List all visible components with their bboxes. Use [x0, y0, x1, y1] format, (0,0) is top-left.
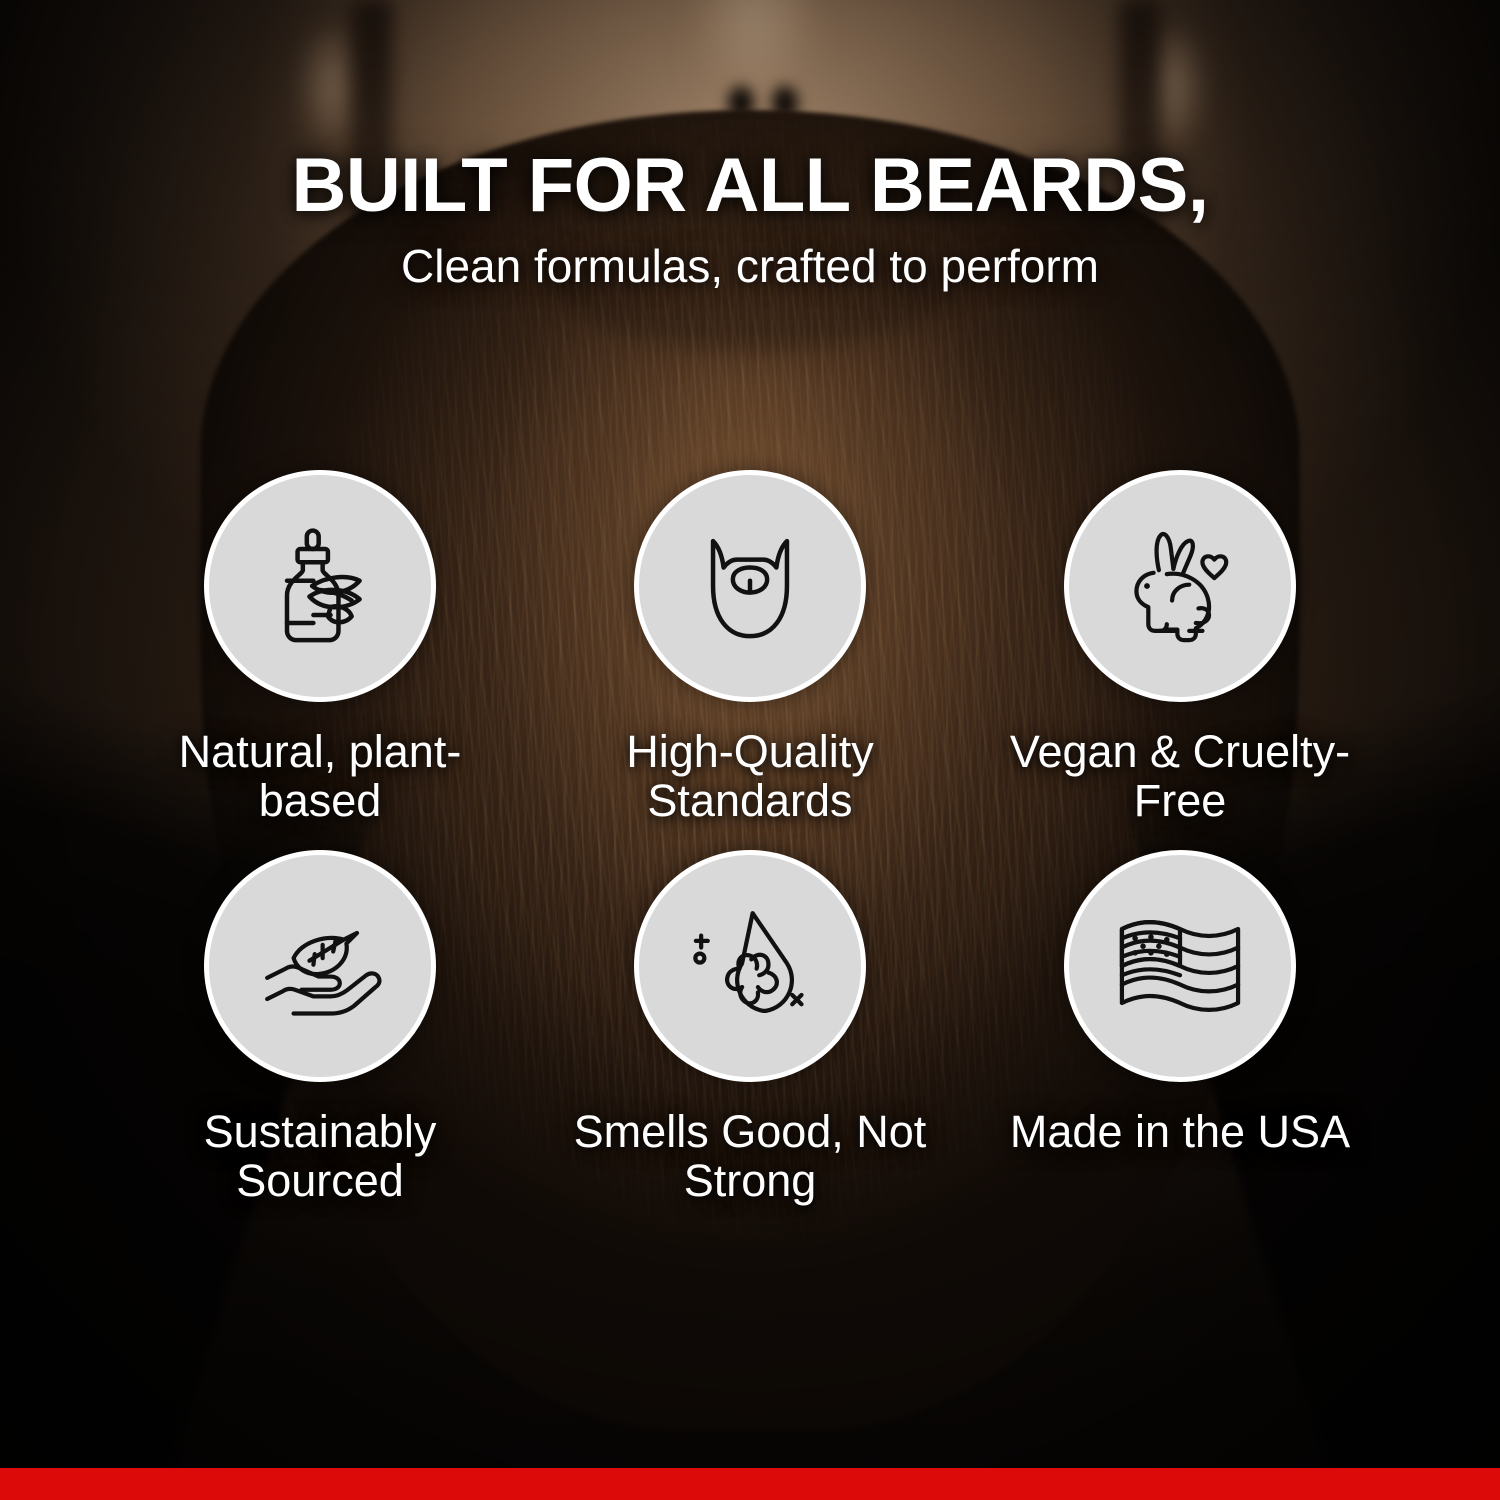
beard-care-feature-banner: BUILT FOR ALL BEARDS, Clean formulas, cr… — [0, 0, 1500, 1500]
feature-item-sustainably-sourced: Sustainably Sourced — [105, 850, 535, 1230]
feature-item-natural-plant-based: Natural, plant-based — [105, 470, 535, 850]
feature-badge — [634, 470, 866, 702]
feature-label: High-Quality Standards — [550, 728, 950, 825]
feature-label: Smells Good, Not Strong — [550, 1108, 950, 1205]
feature-item-vegan-cruelty-free: Vegan & Cruelty-Free — [965, 470, 1395, 850]
feature-label: Vegan & Cruelty-Free — [980, 728, 1380, 825]
feature-label: Natural, plant-based — [120, 728, 520, 825]
feature-badge — [204, 850, 436, 1082]
feature-badge — [1064, 470, 1296, 702]
feature-item-smells-good-not-strong: Smells Good, Not Strong — [535, 850, 965, 1230]
feature-label: Made in the USA — [1010, 1108, 1350, 1157]
page-title: BUILT FOR ALL BEARDS, — [0, 148, 1500, 224]
usa-flag-icon — [1114, 900, 1246, 1032]
feature-badge — [1064, 850, 1296, 1082]
headline-block: BUILT FOR ALL BEARDS, Clean formulas, cr… — [0, 148, 1500, 290]
droplet-flower-icon — [684, 900, 816, 1032]
beard-icon — [684, 520, 816, 652]
rabbit-heart-icon — [1114, 520, 1246, 652]
feature-item-high-quality-standards: High-Quality Standards — [535, 470, 965, 850]
hand-holding-leaf-icon — [254, 900, 386, 1032]
feature-item-made-in-usa: Made in the USA — [965, 850, 1395, 1230]
feature-grid: Natural, plant-based High-Quality Standa… — [105, 470, 1395, 1230]
feature-label: Sustainably Sourced — [120, 1108, 520, 1205]
feature-badge — [634, 850, 866, 1082]
page-subtitle: Clean formulas, crafted to perform — [0, 242, 1500, 290]
feature-badge — [204, 470, 436, 702]
bottom-accent-bar — [0, 1468, 1500, 1500]
dropper-bottle-leaf-icon — [254, 520, 386, 652]
